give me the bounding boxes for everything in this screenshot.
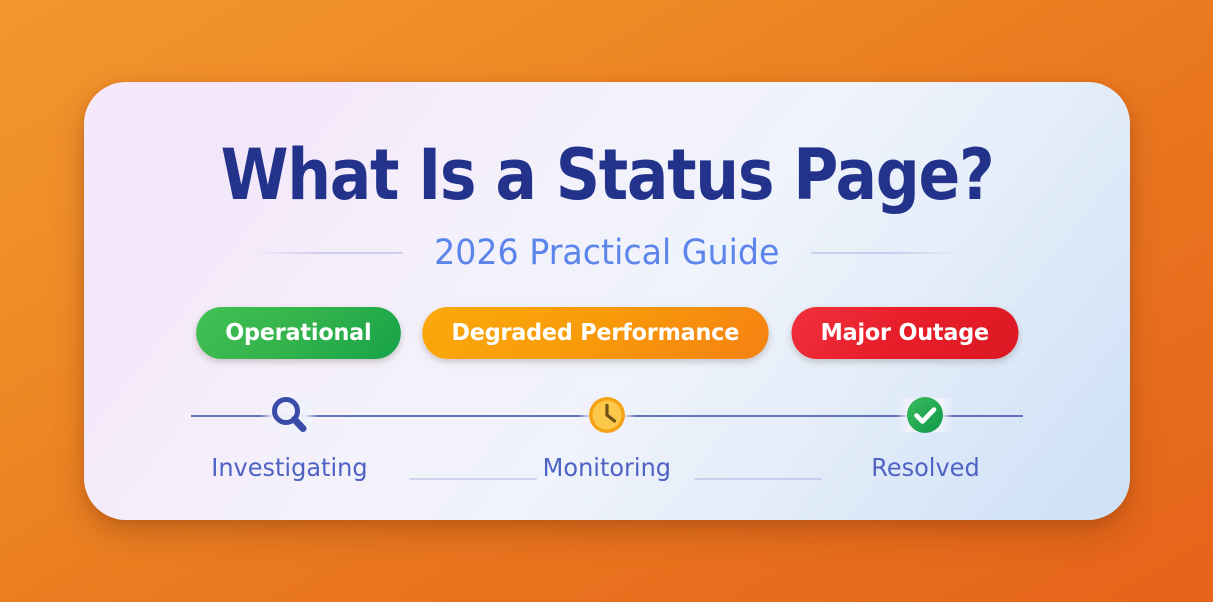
status-badge-degraded-performance[interactable]: Degraded Performance (423, 307, 769, 359)
status-badge-major-outage[interactable]: Major Outage (791, 307, 1018, 359)
timeline-label-resolved: Resolved (871, 453, 979, 482)
status-badge-group: Operational Degraded Performance Major O… (84, 307, 1130, 359)
status-page-card: What Is a Status Page? 2026 Practical Gu… (84, 82, 1130, 520)
timeline-step-monitoring[interactable]: Monitoring (507, 398, 707, 482)
page-title: What Is a Status Page? (147, 140, 1067, 210)
timeline-steps: Investigating Monitoring (189, 398, 1025, 482)
clock-icon (585, 393, 629, 437)
incident-timeline: Investigating Monitoring (189, 398, 1025, 508)
timeline-step-investigating[interactable]: Investigating (189, 398, 389, 482)
subtitle-rule-left (253, 252, 403, 254)
card-content: What Is a Status Page? 2026 Practical Gu… (84, 82, 1130, 520)
status-badge-operational[interactable]: Operational (196, 307, 400, 359)
timeline-step-resolved[interactable]: Resolved (825, 398, 1025, 482)
subtitle-row: 2026 Practical Guide (84, 230, 1130, 276)
check-circle-icon (903, 393, 947, 437)
poster-stage: What Is a Status Page? 2026 Practical Gu… (0, 0, 1213, 602)
magnifier-icon (267, 393, 311, 437)
page-subtitle: 2026 Practical Guide (434, 233, 779, 273)
subtitle-rule-right (811, 252, 961, 254)
timeline-label-investigating: Investigating (211, 453, 367, 482)
timeline-label-monitoring: Monitoring (543, 453, 671, 482)
